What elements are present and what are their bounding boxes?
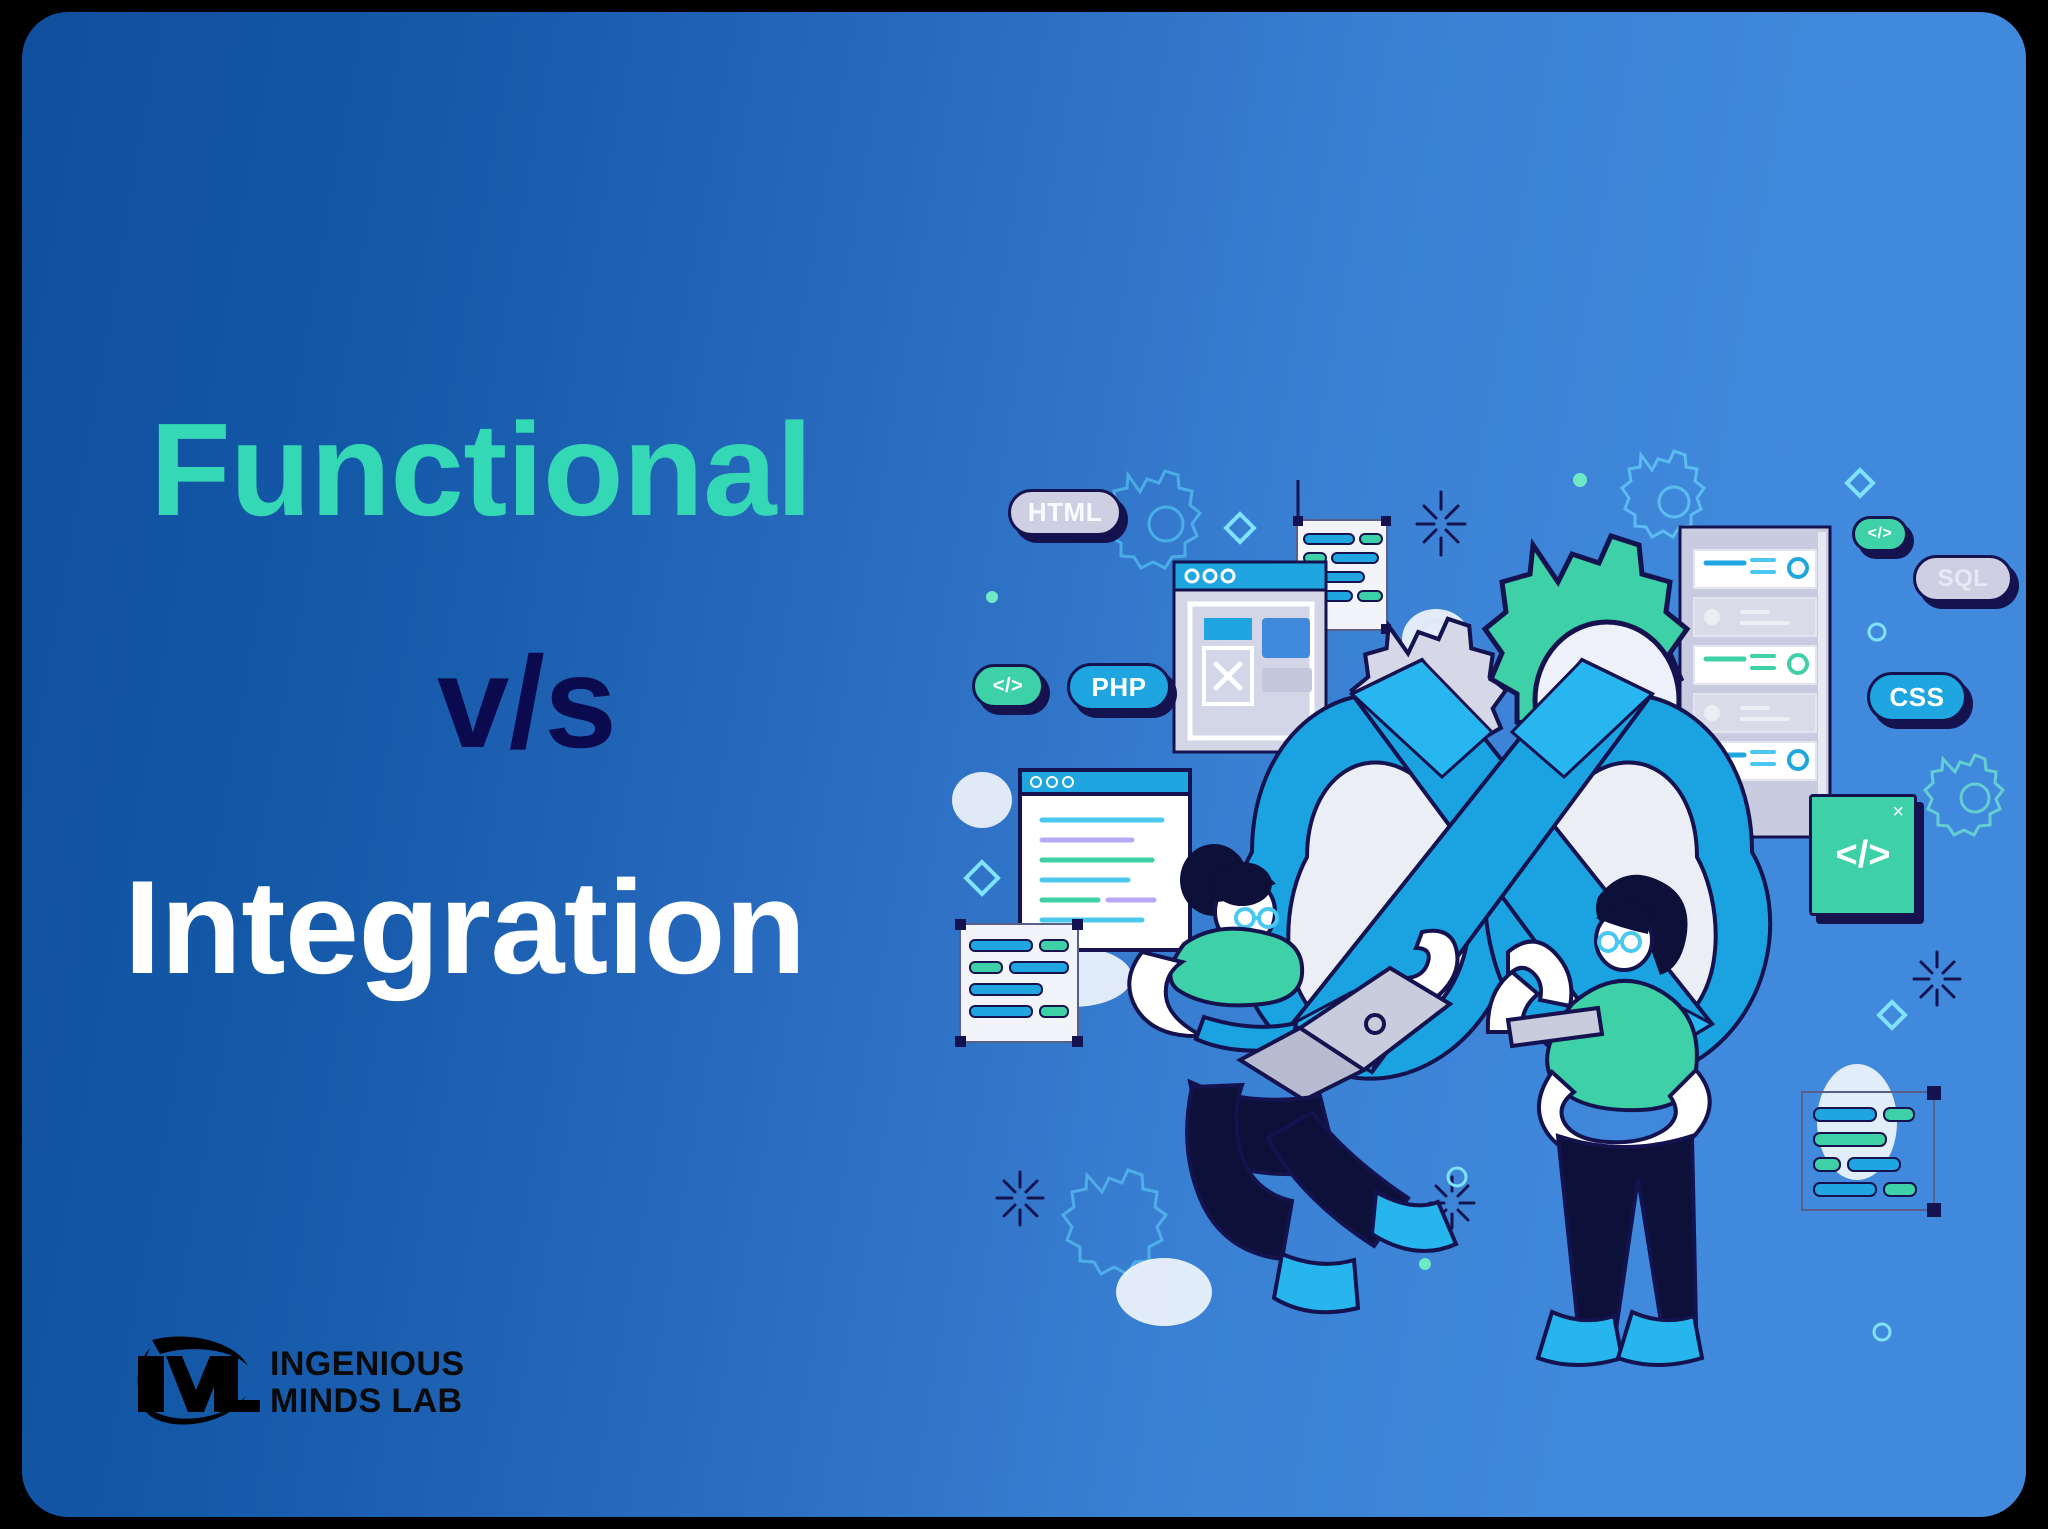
badge-code-pill-right: </> — [1852, 516, 1908, 552]
headline-line-functional: Functional — [150, 404, 812, 536]
badge-code-pill-left: </> — [972, 664, 1044, 708]
headline-line-vs: v/s — [437, 637, 616, 767]
close-icon: × — [1892, 801, 1904, 824]
badge-css: CSS — [1867, 672, 1967, 722]
poster-card: Functional v/s Integration — [22, 12, 2026, 1517]
code-card: × </> — [1809, 794, 1917, 916]
badge-php: PHP — [1067, 663, 1171, 711]
code-card-label: </> — [1836, 834, 1891, 877]
server-row — [1694, 646, 1816, 684]
badge-html: HTML — [1008, 489, 1122, 536]
brand-logo-text: INGENIOUS MINDS LAB — [270, 1346, 464, 1420]
server-row — [1694, 694, 1816, 732]
devops-illustration: HTML PHP SQL CSS </> </> × </> — [952, 432, 2026, 1092]
headline-line-integration: Integration — [124, 862, 806, 995]
decor-outline-gear-top — [1622, 451, 1704, 537]
badge-sql: SQL — [1913, 555, 2013, 602]
server-row — [1694, 598, 1816, 636]
sparkle-top — [1417, 492, 1465, 555]
iml-monogram-icon — [130, 1334, 260, 1428]
server-row — [1694, 550, 1816, 588]
code-snippet-panel-left — [955, 919, 1083, 1047]
brand-name-line-2: MINDS LAB — [270, 1383, 464, 1420]
brand-name-line-1: INGENIOUS — [270, 1346, 464, 1383]
brand-logo: INGENIOUS MINDS LAB — [130, 1332, 490, 1432]
decor-outline-gear-right — [1925, 755, 2003, 835]
sparkle-right — [1914, 952, 1960, 1005]
